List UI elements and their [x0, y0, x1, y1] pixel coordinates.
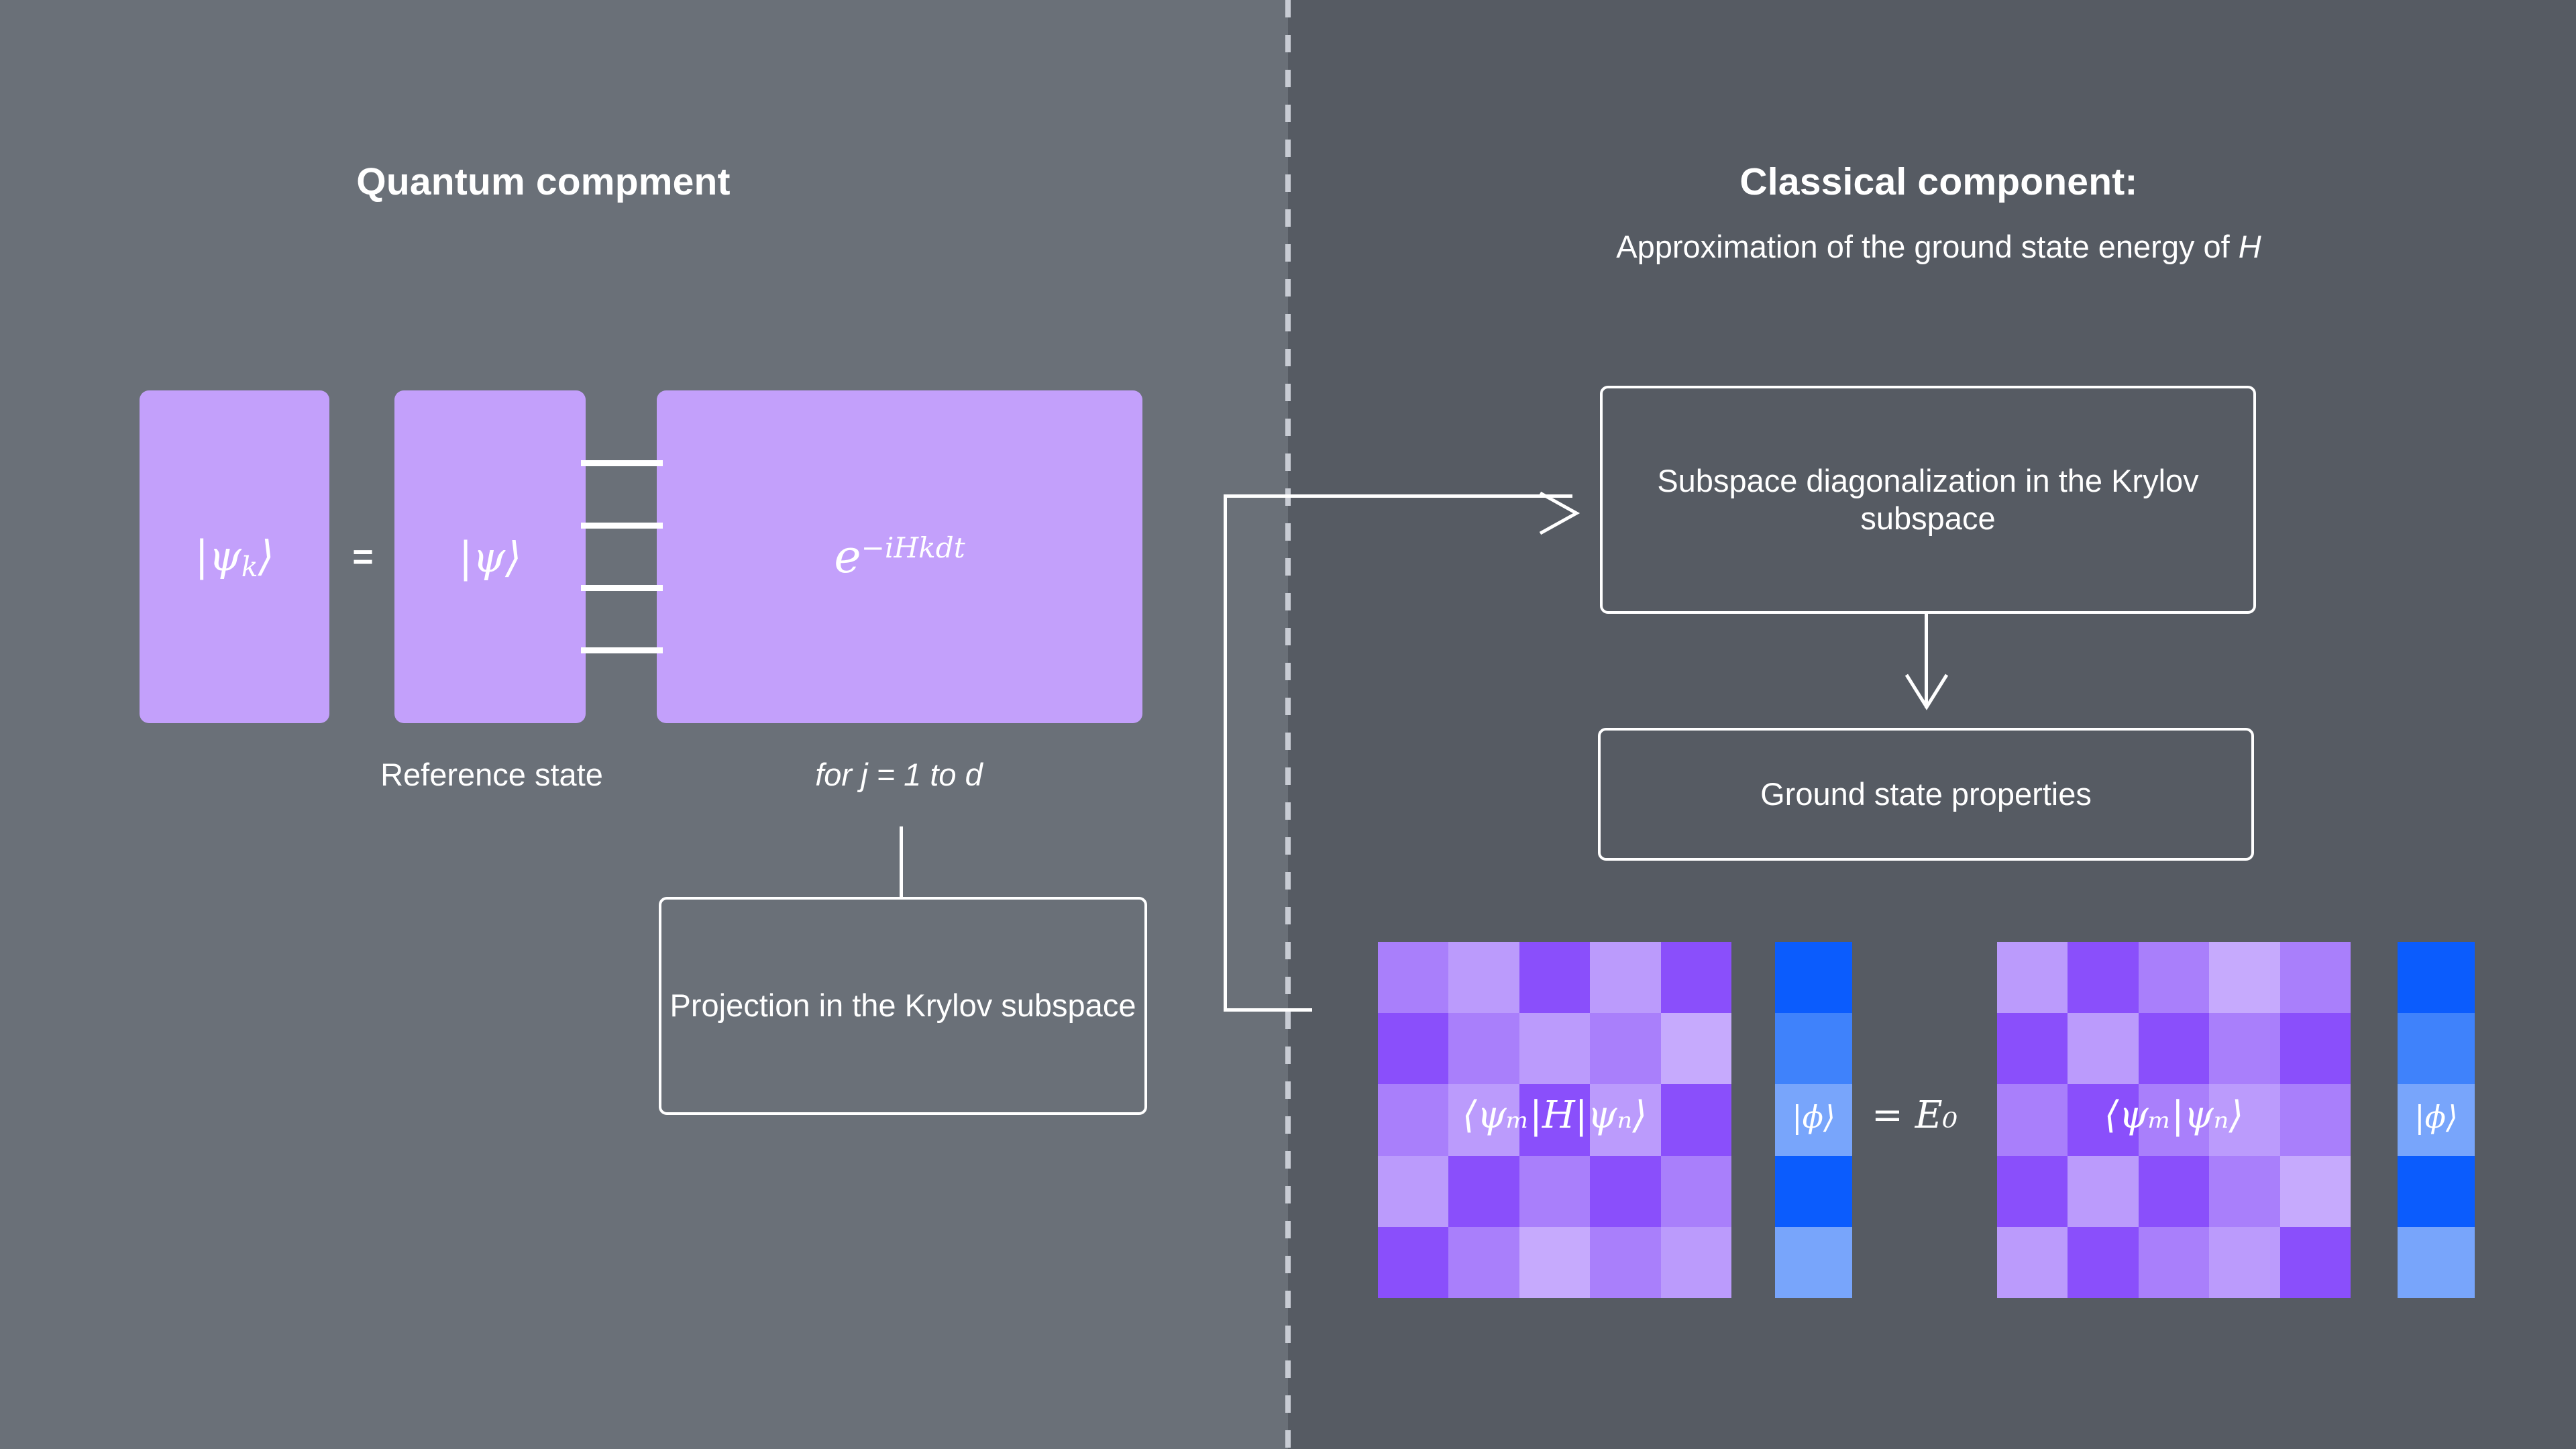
matrix-cell: [2068, 1013, 2138, 1084]
matrix-cell: [1590, 1013, 1660, 1084]
diagram-canvas: Quantum compment |ψk⟩ = |ψ⟩ e−iHkdt Refe…: [0, 0, 2576, 1449]
vector-cell: [1775, 1156, 1852, 1227]
matrix-cell: [1448, 1156, 1519, 1227]
vector-cell: [2398, 1227, 2475, 1298]
gate-block-psi-k: |ψk⟩: [140, 390, 329, 723]
matrix-cell: [2139, 1013, 2209, 1084]
matrix-cell: [2280, 1013, 2351, 1084]
arrowhead-down-icon: [1902, 671, 1951, 712]
matrix-cell: [1661, 1013, 1731, 1084]
equals-sign: =: [335, 530, 390, 584]
connector-segment-vertical: [1224, 494, 1227, 1010]
matrix-cell: [2139, 1156, 2209, 1227]
matrix-cell: [2280, 1084, 2351, 1155]
matrix-cell: [2280, 1156, 2351, 1227]
matrix-cell: [1519, 1084, 1590, 1155]
matrix-cell: [1590, 1156, 1660, 1227]
vector-cell: [2398, 1084, 2475, 1155]
matrix-cell: [2209, 1013, 2279, 1084]
matrix-cell: [2209, 1227, 2279, 1298]
matrix-cell: [1997, 1013, 2068, 1084]
quantum-panel-title: Quantum compment: [121, 160, 966, 204]
matrix-cell: [1378, 1227, 1448, 1298]
matrix-cell: [1378, 1156, 1448, 1227]
matrix-cell: [1448, 1013, 1519, 1084]
subtitle-text: Approximation of the ground state energy…: [1616, 229, 2239, 264]
connector-segment-horizontal-upper: [1224, 494, 1572, 498]
matrix-cell: [1997, 1156, 2068, 1227]
matrix-cell: [1519, 1156, 1590, 1227]
gate-block-time-evolution: e−iHkdt: [657, 390, 1142, 723]
matrix-cell: [1590, 1084, 1660, 1155]
matrix-cell: [1997, 1227, 2068, 1298]
classical-panel-title: Classical component:: [1436, 160, 2442, 204]
matrix-cell: [2068, 1156, 2138, 1227]
subtitle-hamiltonian-symbol: H: [2239, 229, 2261, 264]
matrix-cell: [1448, 1084, 1519, 1155]
matrix-cell: [1661, 942, 1731, 1013]
qubit-wire-4: [581, 647, 663, 653]
qubit-wire-3: [581, 585, 663, 591]
matrix-cell: [1661, 1156, 1731, 1227]
connector-segment-horizontal-lower: [1224, 1008, 1312, 1012]
projection-box[interactable]: Projection in the Krylov subspace: [659, 897, 1147, 1115]
phi-vector-right: [2398, 942, 2475, 1298]
vector-cell: [2398, 942, 2475, 1013]
vector-cell: [1775, 942, 1852, 1013]
panel-divider-dashed: [1285, 0, 1291, 1449]
matrix-cell: [1378, 1013, 1448, 1084]
matrix-cell: [2280, 942, 2351, 1013]
matrix-cell: [1378, 942, 1448, 1013]
matrix-cell: [2209, 1084, 2279, 1155]
matrix-cell: [1448, 1227, 1519, 1298]
subspace-diagonalization-box[interactable]: Subspace diagonalization in the Krylov s…: [1600, 386, 2256, 614]
overlap-matrix: [1997, 942, 2351, 1298]
matrix-cell: [2139, 942, 2209, 1013]
quantum-panel: [0, 0, 1288, 1449]
vector-cell: [1775, 1084, 1852, 1155]
matrix-cell: [2068, 1084, 2138, 1155]
loop-caption: for j = 1 to d: [691, 757, 1107, 794]
classical-panel-subtitle: Approximation of the ground state energy…: [1335, 228, 2542, 265]
phi-vector-left: [1775, 942, 1852, 1298]
matrix-cell: [1590, 942, 1660, 1013]
matrix-cell: [2209, 1156, 2279, 1227]
vector-cell: [2398, 1156, 2475, 1227]
matrix-cell: [2209, 942, 2279, 1013]
matrix-cell: [1378, 1084, 1448, 1155]
vector-cell: [2398, 1013, 2475, 1084]
matrix-cell: [1997, 942, 2068, 1013]
matrix-cell: [1519, 1227, 1590, 1298]
matrix-cell: [2068, 942, 2138, 1013]
matrix-cell: [1997, 1084, 2068, 1155]
matrix-cell: [1661, 1227, 1731, 1298]
matrix-cell: [1519, 1013, 1590, 1084]
matrix-cell: [2139, 1227, 2209, 1298]
vector-cell: [1775, 1227, 1852, 1298]
loop-connector-stub: [900, 826, 903, 899]
matrix-cell: [1590, 1227, 1660, 1298]
vector-cell: [1775, 1013, 1852, 1084]
hamiltonian-matrix: [1378, 942, 1731, 1298]
matrix-cell: [2068, 1227, 2138, 1298]
ket-psi-label: |ψ⟩: [459, 533, 522, 582]
ket-psi-k-label: |ψk⟩: [195, 531, 274, 583]
ground-state-properties-box[interactable]: Ground state properties: [1598, 728, 2254, 861]
time-evolution-operator-label: e−iHkdt: [834, 531, 965, 584]
qubit-wire-2: [581, 523, 663, 529]
reference-state-caption: Reference state: [341, 757, 643, 794]
matrix-cell: [2280, 1227, 2351, 1298]
matrix-cell: [1448, 942, 1519, 1013]
qubit-wire-1: [581, 460, 663, 466]
gate-block-psi: |ψ⟩: [394, 390, 586, 723]
matrix-cell: [1519, 942, 1590, 1013]
matrix-cell: [1661, 1084, 1731, 1155]
matrix-cell: [2139, 1084, 2209, 1155]
